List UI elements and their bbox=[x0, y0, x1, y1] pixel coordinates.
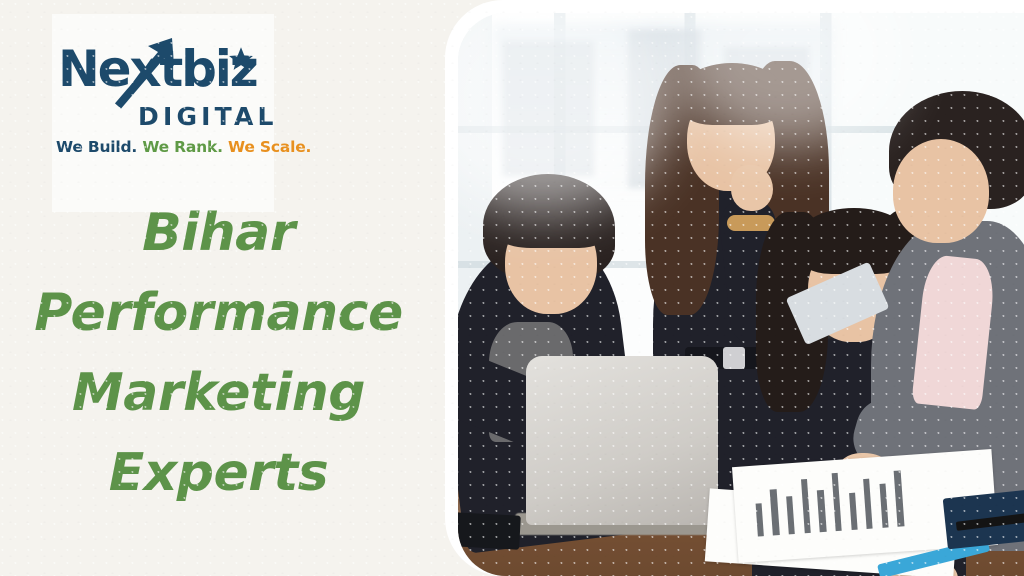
tagline-we-scale: We Scale. bbox=[228, 138, 311, 156]
logo-tagline: We Build. We Rank. We Scale. bbox=[56, 138, 311, 156]
face bbox=[893, 139, 989, 243]
hair-fringe bbox=[487, 182, 609, 248]
black-smartphone bbox=[458, 512, 521, 549]
headline-line-3: Marketing bbox=[0, 353, 437, 433]
logo-subtitle-digital: DIGITAL bbox=[138, 102, 278, 131]
marketing-banner: Nextbiz DIGITAL We Build. We Rank. We Sc… bbox=[0, 0, 1024, 576]
page-title: Bihar Performance Marketing Experts bbox=[0, 193, 437, 513]
tagline-we-rank: We Rank. bbox=[142, 138, 222, 156]
headline-line-4: Experts bbox=[0, 433, 437, 513]
star-icon bbox=[228, 46, 254, 72]
tagline-we-build: We Build. bbox=[56, 138, 137, 156]
belt-buckle bbox=[723, 347, 745, 369]
logo-wordmark: Nextbiz bbox=[58, 40, 270, 102]
headline-line-1: Bihar bbox=[0, 193, 437, 273]
headline-line-2: Performance bbox=[0, 273, 437, 353]
left-content-column: Nextbiz DIGITAL We Build. We Rank. We Sc… bbox=[0, 0, 440, 576]
silver-laptop bbox=[526, 356, 718, 525]
nextbiz-digital-logo: Nextbiz DIGITAL We Build. We Rank. We Sc… bbox=[52, 14, 274, 212]
business-team-meeting-photo bbox=[458, 13, 1024, 576]
hair-bangs bbox=[679, 63, 785, 125]
photo-panel bbox=[445, 0, 1024, 576]
arrow-up-right-icon bbox=[114, 32, 180, 110]
